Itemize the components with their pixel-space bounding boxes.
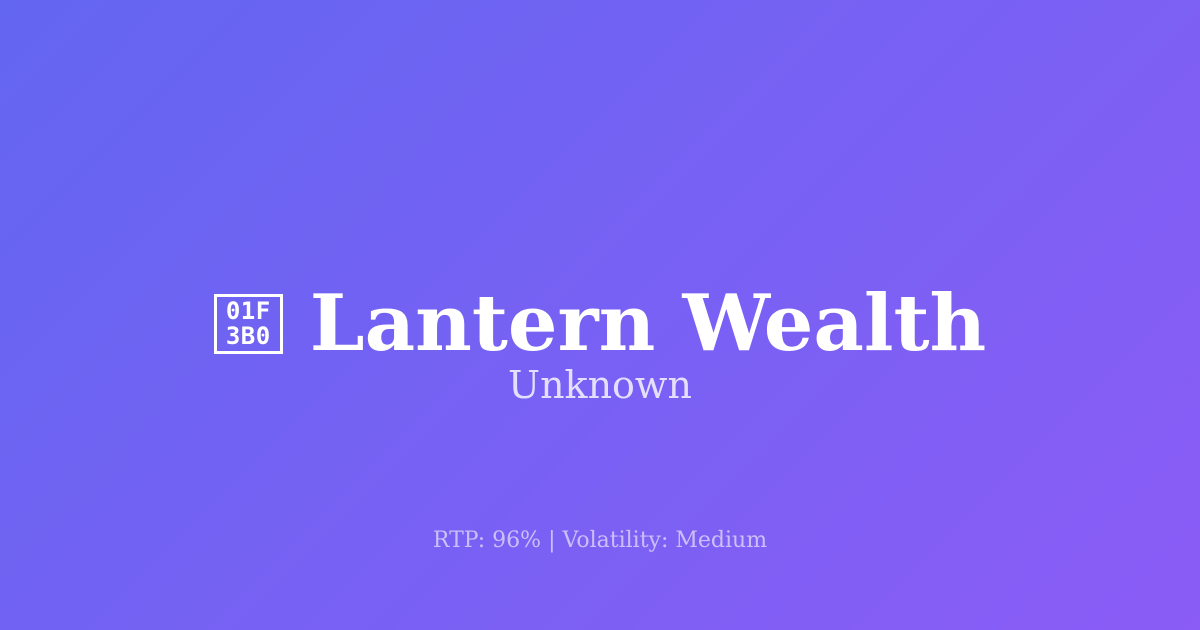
game-meta-line: RTP: 96% | Volatility: Medium [0,527,1200,556]
subtitle: Unknown [0,363,1200,409]
tofu-codepoint-high: 01F [226,299,271,324]
og-preview-card: 01F 3B0 Lantern Wealth Unknown RTP: 96% … [0,0,1200,630]
tofu-codepoint-low: 3B0 [226,324,271,349]
slot-machine-icon: 01F 3B0 [214,294,283,354]
page-title: Lantern Wealth [310,285,986,363]
